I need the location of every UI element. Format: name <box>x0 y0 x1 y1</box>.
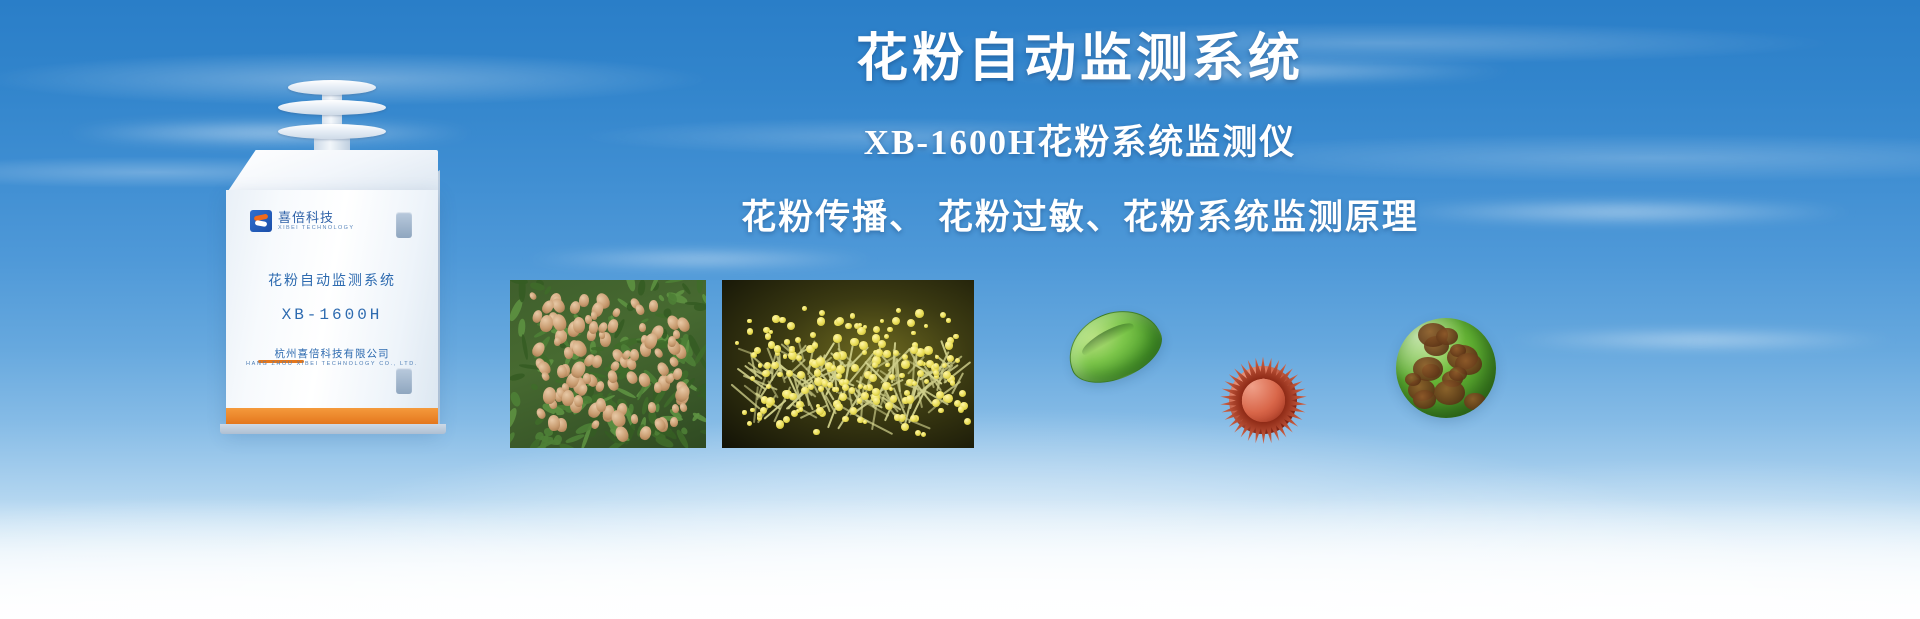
catkin-anther <box>810 332 816 338</box>
catkin-anther <box>959 390 966 397</box>
inlet-disc <box>278 124 386 139</box>
catkin-anther <box>783 354 787 358</box>
catkin-anther <box>958 406 964 412</box>
foliage-needle <box>518 280 526 302</box>
pollen-blotch <box>1449 367 1467 381</box>
device-top-panel <box>226 150 438 194</box>
catkin-anther <box>910 415 917 422</box>
catkin-anther <box>836 317 844 325</box>
catkin-anther <box>747 328 754 335</box>
catkin-anther <box>892 317 901 326</box>
catkin-anther <box>769 330 773 334</box>
pollen-cone <box>634 303 646 317</box>
cypress-cones-photo <box>510 280 706 448</box>
foliage-needle <box>530 383 538 391</box>
device-brand-logo: 喜倍科技 XIBEI TECHNOLOGY <box>250 210 354 232</box>
catkin-anther <box>819 310 825 316</box>
catkin-anther <box>735 341 739 345</box>
foliage-needle <box>616 386 638 399</box>
pollen-cone <box>639 323 646 332</box>
pollen-cone <box>649 300 658 312</box>
catkin-anther <box>946 318 951 323</box>
catkin-anther <box>842 416 849 423</box>
catkin-anther <box>901 423 909 431</box>
catkin-anther <box>906 395 914 403</box>
catkin-anther <box>742 410 746 414</box>
catkin-anther <box>883 350 890 357</box>
catkin-anther <box>836 373 842 379</box>
pollen-cone <box>647 401 656 412</box>
catkin-anther <box>873 326 880 333</box>
catkin-anther <box>953 334 959 340</box>
foliage-needle <box>697 280 703 294</box>
catkin-anther <box>849 387 855 393</box>
foliage-needle <box>637 280 646 296</box>
device-base <box>220 424 446 434</box>
catkin-anther <box>899 373 905 379</box>
catkin-anther <box>799 407 804 412</box>
catkin-anther <box>901 360 910 369</box>
catkin-anther <box>817 317 825 325</box>
horizon-glow <box>0 499 1920 619</box>
device-latch-lower <box>396 368 412 394</box>
pollen-blotch <box>1396 318 1406 326</box>
foliage-needle <box>657 294 665 302</box>
pollen-cone <box>630 349 639 361</box>
brand-name-cn: 喜倍科技 <box>278 211 354 225</box>
catkin-anther <box>907 319 915 327</box>
pollen-cone <box>547 414 560 431</box>
catkin-anther <box>802 306 807 311</box>
catkin-anther <box>777 372 782 377</box>
catkin-anther <box>889 387 893 391</box>
catkin-pollen-photo <box>722 280 974 448</box>
headline-block: 花粉自动监测系统 XB-1600H花粉系统监测仪 花粉传播、 花粉过敏、花粉系统… <box>520 30 1640 240</box>
catkin-anther <box>762 370 770 378</box>
pollen-blotch <box>1413 390 1436 408</box>
device-accent-stripe <box>226 408 438 424</box>
catkin-anther <box>859 341 868 350</box>
pollen-cone <box>631 414 639 425</box>
catkin-anther <box>869 374 877 382</box>
catkin-anther <box>757 412 763 418</box>
catkin-anther <box>875 349 883 357</box>
catkin-anther <box>887 327 893 333</box>
page-title: 花粉自动监测系统 <box>520 30 1640 90</box>
catkin-anther <box>814 369 822 377</box>
catkin-anther <box>774 345 781 352</box>
foliage-needle <box>510 406 519 430</box>
catkin-anther <box>816 357 825 366</box>
pollen-cone <box>654 382 662 393</box>
catkin-anther <box>791 410 798 417</box>
device-air-inlet <box>278 78 386 156</box>
catkin-anther <box>915 309 924 318</box>
catkin-anther <box>747 421 752 426</box>
catkin-anther <box>917 360 924 367</box>
catkin-anther <box>858 384 863 389</box>
catkin-anther <box>878 340 886 348</box>
catkin-anther <box>835 403 843 411</box>
catkin-anther <box>747 319 751 323</box>
catkin-anther <box>766 397 775 406</box>
catkin-anther <box>783 416 791 424</box>
pollen-cone <box>578 293 589 307</box>
catkin-anther <box>885 402 893 410</box>
hero-banner: 花粉自动监测系统 XB-1600H花粉系统监测仪 花粉传播、 花粉过敏、花粉系统… <box>0 0 1920 619</box>
catkin-anther <box>863 385 868 390</box>
brand-name-en: XIBEI TECHNOLOGY <box>278 225 354 231</box>
catkin-anther <box>940 312 946 318</box>
foliage-needle <box>623 280 637 292</box>
catkin-anther <box>812 342 818 348</box>
catkin-anther <box>845 323 852 330</box>
xibei-logo-icon <box>250 210 272 232</box>
device-model-number: XB-1600H <box>226 306 438 324</box>
foliage-needle <box>697 393 706 397</box>
foliage-needle <box>700 429 706 436</box>
device-latch-upper <box>396 212 412 238</box>
device-product-name: 花粉自动监测系统 <box>226 270 438 290</box>
catkin-anther <box>911 331 916 336</box>
device-company-cn: 杭州喜倍科技有限公司 <box>226 346 438 361</box>
catkin-anther <box>789 348 794 353</box>
grain-body <box>1057 297 1171 395</box>
catkin-anther <box>787 322 795 330</box>
catkin-anther <box>910 346 918 354</box>
catkin-anther <box>964 418 971 425</box>
catkin-anther <box>924 346 933 355</box>
foliage-needle <box>521 334 530 360</box>
subtitle-topics: 花粉传播、 花粉过敏、花粉系统监测原理 <box>520 189 1640 240</box>
cloud-wisp <box>520 250 880 268</box>
green-grain-pollen-model <box>1066 313 1162 379</box>
catkin-anther <box>833 334 842 343</box>
catkin-anther <box>896 308 901 313</box>
catkin-anther <box>850 313 856 319</box>
catkin-anther <box>955 358 960 363</box>
subtitle-model: XB-1600H花粉系统监测仪 <box>520 114 1640 165</box>
catkin-anther <box>921 432 926 437</box>
catkin-anther <box>932 399 940 407</box>
catkin-anther <box>833 352 841 360</box>
catkin-anther <box>827 382 833 388</box>
inlet-disc <box>288 80 376 95</box>
foliage-needle <box>510 391 523 409</box>
foliage-needle <box>685 302 701 306</box>
catkin-anther <box>884 334 889 339</box>
catkin-anther <box>796 355 802 361</box>
pollen-cone <box>625 369 640 385</box>
catkin-anther <box>885 363 889 367</box>
pollen-blotch <box>1464 393 1486 410</box>
catkin-anther <box>862 350 867 355</box>
grain-furrow <box>1079 318 1138 361</box>
catkin-anther <box>938 408 943 413</box>
catkin-anther <box>786 370 793 377</box>
catkin-anther <box>813 429 819 435</box>
catkin-anther <box>784 339 789 344</box>
mottled-grain-pollen-model <box>1396 318 1496 418</box>
cloud-wisp <box>1500 330 1900 350</box>
pollen-blotch <box>1434 380 1465 405</box>
pollen-cone <box>668 335 676 346</box>
catkin-anther <box>808 384 814 390</box>
catkin-anther <box>944 394 953 403</box>
catkin-anther <box>766 384 771 389</box>
catkin-anther <box>771 362 778 369</box>
catkin-anther <box>924 324 928 328</box>
catkin-anther <box>850 407 858 415</box>
pollen-blotch <box>1436 328 1458 346</box>
pollen-cone <box>528 291 538 301</box>
spiky-grain-pollen-model <box>1215 352 1311 448</box>
foliage-needle <box>510 431 516 444</box>
monitor-device-illustration: 喜倍科技 XIBEI TECHNOLOGY 花粉自动监测系统 XB-1600H … <box>196 78 476 438</box>
mottled-body <box>1396 318 1496 418</box>
pollen-cone <box>678 403 687 414</box>
catkin-anther <box>765 333 772 340</box>
device-company-en: HANG ZHOU XIBEI TECHNOLOGY CO., LTD. <box>226 361 438 367</box>
catkin-anther <box>779 317 785 323</box>
catkin-anther <box>751 352 757 358</box>
catkin-anther <box>917 370 924 377</box>
catkin-anther <box>863 325 867 329</box>
pollen-cone <box>557 365 567 379</box>
pollen-cone <box>670 417 678 428</box>
catkin-anther <box>863 420 868 425</box>
catkin-anther <box>839 393 847 401</box>
catkin-anther <box>945 341 953 349</box>
catkin-anther <box>880 319 884 323</box>
foliage-needle <box>510 371 526 381</box>
catkin-anther <box>758 363 763 368</box>
catkin-anther <box>850 338 858 346</box>
inlet-disc <box>278 100 386 115</box>
pollen-blotch <box>1405 373 1421 386</box>
